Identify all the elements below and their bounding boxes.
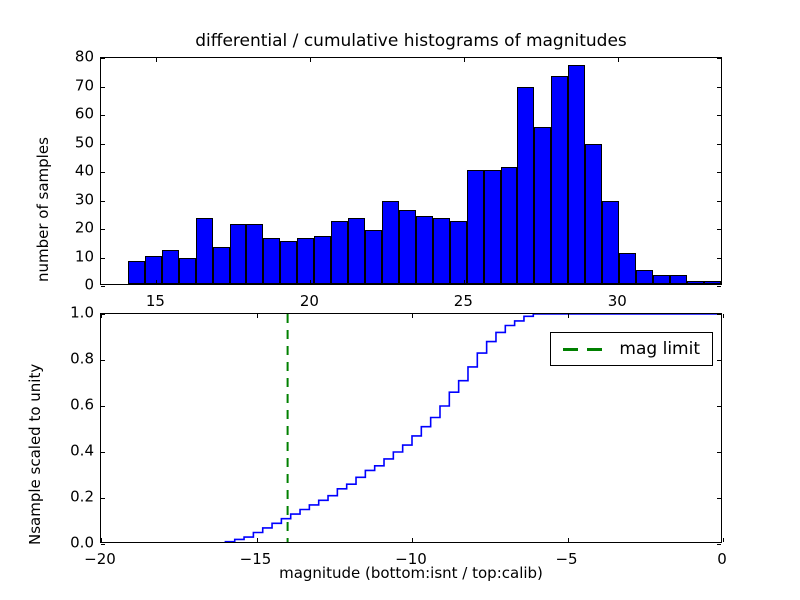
xtick-bottom [412,538,413,542]
top-panel-ylabel: number of samples [34,137,52,282]
legend-label-mag-limit: mag limit [619,340,700,358]
histogram-bar [263,238,280,284]
xtick-label: −10 [395,552,427,567]
histogram-bar [450,221,467,284]
legend: mag limit [550,332,713,366]
xtick-label: 15 [146,294,165,309]
legend-dashed-line-icon [563,348,605,350]
ytick-label: 0.8 [70,352,94,367]
xtick-bottom [568,538,569,542]
bottom-panel-cumulative-axes: mag limit [100,313,722,543]
histogram-bar [602,201,619,284]
histogram-bar [517,87,534,284]
xtick-bottom [156,280,157,284]
ytick-label: 0 [84,278,94,293]
xtick-label: −5 [555,552,577,567]
xtick-top [568,314,569,318]
histogram-bar [230,224,247,284]
xtick-label: −15 [240,552,272,567]
histogram-bar [704,281,721,284]
xtick-bottom [257,538,258,542]
histogram-bar [653,275,670,284]
histogram-bar [619,253,636,284]
histogram-bar [534,127,551,284]
ytick-right [717,144,721,145]
xtick-top [412,314,413,318]
histogram-bar [331,221,348,284]
histogram-bar [280,241,297,284]
ytick-right [717,258,721,259]
ytick [101,258,105,259]
ytick-label: 70 [75,78,94,93]
histogram-bar [196,218,213,284]
histogram-bar [568,65,585,284]
ytick-label: 40 [75,164,94,179]
ytick [101,201,105,202]
histogram-bar [297,238,314,284]
ytick-right [717,58,721,59]
histogram-bar [467,170,484,284]
histogram-bar [399,210,416,284]
histogram-bar [382,201,399,284]
ytick-right [717,115,721,116]
ytick-right [717,286,721,287]
ytick [101,144,105,145]
ytick-label: 50 [75,135,94,150]
ytick-label: 30 [75,192,94,207]
xtick-bottom [101,538,102,542]
ytick-right [717,201,721,202]
ytick-right [717,498,721,499]
ytick-right [717,172,721,173]
histogram-bar [145,256,162,285]
ytick [101,87,105,88]
ytick-label: 0.6 [70,398,94,413]
xtick-bottom [464,280,465,284]
ytick [101,286,105,287]
histogram-bar [246,224,263,284]
ytick [101,452,105,453]
ytick-right [717,452,721,453]
ytick-label: 0.0 [70,536,94,551]
xtick-bottom [310,280,311,284]
ytick-label: 1.0 [70,306,94,321]
histogram-bar [213,247,230,284]
ytick [101,58,105,59]
bottom-panel-ylabel: Nsample scaled to unity [26,364,44,545]
xtick-label: 0 [717,552,727,567]
ytick-label: 0.2 [70,490,94,505]
xtick-label: 25 [454,294,473,309]
ytick [101,406,105,407]
ytick-label: 60 [75,107,94,122]
histogram-bar [128,261,145,284]
histogram-bar [636,270,653,284]
figure-title: differential / cumulative histograms of … [100,30,722,52]
histogram-bar [416,216,433,284]
matplotlib-figure: differential / cumulative histograms of … [0,0,800,600]
histogram-bar [670,275,687,284]
histogram-bar [433,218,450,284]
ytick-label: 10 [75,249,94,264]
ytick-label: 20 [75,221,94,236]
ytick [101,544,105,545]
histogram-bar [484,170,501,284]
xtick-top [156,58,157,62]
ytick-label: 0.4 [70,444,94,459]
xtick-top [101,314,102,318]
ytick [101,115,105,116]
ytick [101,360,105,361]
xtick-top [310,58,311,62]
xtick-label: 20 [300,294,319,309]
ytick-right [717,360,721,361]
xtick-top [464,58,465,62]
ytick-right [717,314,721,315]
histogram-bar [501,167,518,284]
histogram-bar [162,250,179,284]
ytick-right [717,87,721,88]
ytick [101,498,105,499]
xtick-label: 30 [608,294,627,309]
histogram-bar [551,76,568,284]
xtick-top [723,314,724,318]
histogram-bar [687,281,704,284]
top-panel-plot-area [101,58,721,284]
ytick [101,172,105,173]
histogram-bar [365,230,382,284]
ytick-right [717,406,721,407]
xtick-top [257,314,258,318]
xtick-bottom [723,538,724,542]
ytick-label: 80 [75,50,94,65]
ytick-right [717,229,721,230]
xtick-label: −20 [84,552,116,567]
ytick [101,229,105,230]
histogram-bar [179,258,196,284]
xtick-top [618,58,619,62]
ytick-right [717,544,721,545]
histogram-bar [314,236,331,284]
histogram-bar [585,144,602,284]
xtick-bottom [618,280,619,284]
histogram-bar [348,218,365,284]
top-panel-histogram-axes [100,57,722,285]
